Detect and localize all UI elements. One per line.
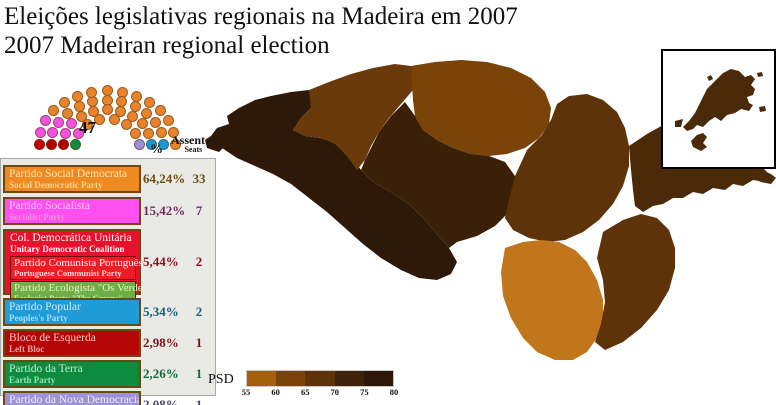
legend-row-swatch[interactable]: Partido da TerraEarth Party xyxy=(3,360,141,388)
scale-gradient-bar xyxy=(246,370,394,387)
parliament-seat xyxy=(94,114,105,125)
scale-tick: 55 xyxy=(242,387,251,397)
election-map-infographic: Eleições legislativas regionais na Madei… xyxy=(0,0,776,405)
scale-tick: 65 xyxy=(301,387,310,397)
inset-islet-east[interactable] xyxy=(759,106,766,112)
parliament-seat xyxy=(130,128,141,139)
parliament-seat xyxy=(70,139,81,150)
parliament-seat xyxy=(34,139,45,150)
scale-tick: 60 xyxy=(271,387,280,397)
inset-islet-south[interactable] xyxy=(691,133,707,151)
party-percent: 64,24% xyxy=(143,171,189,187)
party-name-pt: Partido da Terra xyxy=(9,363,136,375)
legend-group-header: Col. Democrática UnitáriaUnitary Democra… xyxy=(7,232,137,255)
party-name-en: Earth Party xyxy=(9,375,136,385)
party-name-en: Social Democratic Party xyxy=(9,180,136,190)
parliament-seat xyxy=(131,91,142,102)
scale-tick: 70 xyxy=(331,387,340,397)
map-region-southeast[interactable] xyxy=(595,214,675,350)
scale-label: PSD xyxy=(208,372,234,388)
scale-segment xyxy=(276,371,305,386)
parliament-seat xyxy=(87,96,98,107)
party-name-en: Peoples's Party xyxy=(9,313,136,323)
parliament-seat xyxy=(48,105,59,116)
inset-islet-west[interactable] xyxy=(675,119,683,127)
party-name-en: Socialist Party xyxy=(9,212,136,222)
party-percent: 2,08% xyxy=(143,397,189,405)
party-name-pt: Partido Popular xyxy=(9,301,136,313)
parliament-seat xyxy=(144,97,155,108)
scale-segment xyxy=(247,371,276,386)
parliament-seat xyxy=(143,128,154,139)
party-percent: 2,98% xyxy=(143,335,189,351)
psd-scale-legend: PSD 556065707580 xyxy=(208,368,398,402)
party-name-pt: Col. Democrática Unitária xyxy=(10,232,135,244)
parliament-seat xyxy=(134,139,145,150)
parliament-seat xyxy=(156,127,167,138)
parliament-seat xyxy=(59,97,70,108)
parliament-seat xyxy=(62,108,73,119)
page-title-pt: Eleições legislativas regionais na Madei… xyxy=(4,2,644,31)
parliament-seat xyxy=(58,139,69,150)
legend-row-swatch[interactable]: Partido SocialistaSocialist Party xyxy=(3,197,141,225)
parliament-seat xyxy=(72,91,83,102)
column-header-percent: % xyxy=(150,141,163,157)
party-percent: 15,42% xyxy=(143,203,189,219)
parliament-seat xyxy=(35,127,46,138)
party-name-pt: Partido Social Democrata xyxy=(9,168,136,180)
parliament-seat xyxy=(47,127,58,138)
total-seats-label: 47 xyxy=(79,118,96,138)
scale-segment xyxy=(305,371,334,386)
party-name-en: Portuguese Communist Party xyxy=(14,269,133,278)
party-name-pt: Partido Socialista xyxy=(9,200,136,212)
parliament-seat xyxy=(46,139,57,150)
parliament-seat xyxy=(163,115,174,126)
legend-row-swatch[interactable]: Partido da Nova DemocraciaNew Democracy … xyxy=(3,391,141,405)
legend-sub-row[interactable]: Partido Comunista PortuguêsPortuguese Co… xyxy=(10,256,136,280)
parliament-seat xyxy=(74,101,85,112)
scale-tick-labels: 556065707580 xyxy=(246,387,394,399)
legend-row-swatch[interactable]: Partido Social DemocrataSocial Democrati… xyxy=(3,165,141,193)
parliament-seat xyxy=(53,117,64,128)
porto-santo-inset xyxy=(661,49,776,169)
parliament-seat xyxy=(60,128,71,139)
party-percent: 2,26% xyxy=(143,366,189,382)
parliament-seat xyxy=(115,106,126,117)
scale-segment xyxy=(335,371,364,386)
porto-santo-inset-svg xyxy=(663,51,774,167)
party-name-pt: Bloco de Esquerda xyxy=(9,332,136,344)
parliament-seat xyxy=(141,108,152,119)
party-name-pt: Partido da Nova Democracia xyxy=(9,394,136,405)
parliament-seat xyxy=(155,105,166,116)
map-region-funchal[interactable] xyxy=(501,240,603,360)
party-name-en: Left Bloc xyxy=(9,344,136,354)
party-seats: 1 xyxy=(189,397,209,405)
party-percent: 5,34% xyxy=(143,304,189,320)
inset-region-porto-santo[interactable] xyxy=(683,69,755,131)
parliament-seat xyxy=(121,119,132,130)
scale-segment xyxy=(364,371,393,386)
legend-row-swatch[interactable]: Partido PopularPeoples's Party xyxy=(3,298,141,326)
scale-tick: 75 xyxy=(360,387,369,397)
legend-group-cdu[interactable]: Col. Democrática UnitáriaUnitary Democra… xyxy=(3,229,141,295)
party-legend-table: Partido Social DemocrataSocial Democrati… xyxy=(0,158,216,396)
parliament-seat xyxy=(150,117,161,128)
parliament-seat xyxy=(40,115,51,126)
party-name-en: Unitary Democratic Coalition xyxy=(10,244,135,254)
parliament-seat xyxy=(102,104,113,115)
inset-islet-north[interactable] xyxy=(707,75,713,81)
legend-row-swatch[interactable]: Bloco de EsquerdaLeft Bloc xyxy=(3,329,141,357)
scale-tick: 80 xyxy=(390,387,399,397)
party-percent: 5,44% xyxy=(143,254,189,270)
inset-islet-northeast[interactable] xyxy=(757,72,763,77)
